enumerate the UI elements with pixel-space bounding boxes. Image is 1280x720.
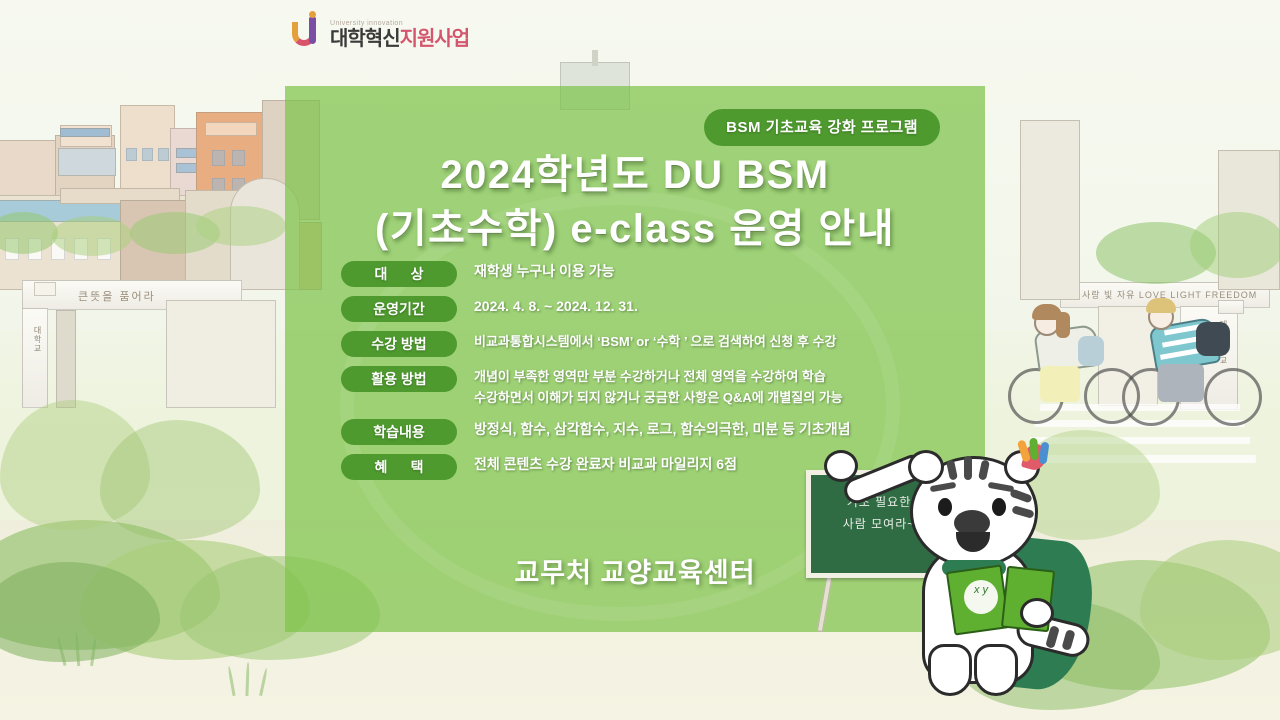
logo-subtitle: University innovation (330, 20, 469, 27)
left-gate-column (56, 310, 76, 408)
gate-emblem-right (1218, 300, 1244, 314)
logo-title-dark: 대학혁신 (330, 28, 400, 50)
tree-canopy (196, 206, 286, 246)
left-gate-wall (166, 300, 276, 408)
uj-logo-icon (292, 16, 324, 52)
info-row: 운영기간 2024. 4. 8. ~ 2024. 12. 31. (341, 296, 941, 322)
tree-canopy (52, 216, 132, 256)
info-value: 방정식, 함수, 삼각함수, 지수, 로그, 함수의극한, 미분 등 기초개념 (474, 419, 941, 440)
info-row: 대 상 재학생 누구나 이용 가능 (341, 261, 941, 287)
info-row: 수강 방법 비교과통합시스템에서 ‘BSM’ or ‘수학 ’ 으로 검색하여 … (341, 331, 941, 357)
gate-emblem (34, 282, 56, 296)
left-pillar-text: 대학교 (32, 326, 43, 353)
mascot-paw (1020, 598, 1054, 628)
antenna (592, 50, 598, 66)
white-tiger-mascot: x y (900, 448, 1120, 698)
info-row: 활용 방법 개념이 부족한 영역만 부분 수강하거나 전체 영역을 수강하여 학… (341, 366, 941, 408)
title-line-1: 2024학년도 DU BSM (285, 148, 985, 202)
info-value: 비교과통합시스템에서 ‘BSM’ or ‘수학 ’ 으로 검색하여 신청 후 수… (474, 331, 941, 352)
university-innovation-logo: University innovation 대학혁신지원사업 (292, 16, 469, 52)
left-gate-text: 큰뜻을 품어라 (78, 288, 156, 304)
logo-text: University innovation 대학혁신지원사업 (330, 20, 469, 49)
mascot-leg (928, 644, 972, 696)
info-label: 학습내용 (341, 419, 457, 445)
info-label: 운영기간 (341, 296, 457, 322)
info-label: 대 상 (341, 261, 457, 287)
tree-canopy (1190, 212, 1280, 278)
info-value: 2024. 4. 8. ~ 2024. 12. 31. (474, 296, 941, 317)
info-label: 활용 방법 (341, 366, 457, 392)
mascot-paw (824, 450, 858, 482)
poster-canvas: 큰뜻을 품어라 대학교 사랑 빛 자유 LOVE LIGHT FREEDOM 대… (0, 0, 1280, 720)
mascot-leg (974, 644, 1018, 696)
mascot-eye (938, 498, 952, 516)
info-value: 재학생 누구나 이용 가능 (474, 261, 941, 282)
foreground-shrub (100, 420, 260, 540)
info-row: 학습내용 방정식, 함수, 삼각함수, 지수, 로그, 함수의극한, 미분 등 … (341, 419, 941, 445)
mascot-eye (992, 498, 1006, 516)
title-line-2: (기초수학) e-class 운영 안내 (285, 202, 985, 256)
info-value: 개념이 부족한 영역만 부분 수강하거나 전체 영역을 수강하여 학습 수강하면… (474, 366, 941, 408)
info-label: 혜 택 (341, 454, 457, 480)
mascot-ear (908, 450, 944, 484)
left-gate-pillar (22, 308, 48, 408)
logo-title: 대학혁신지원사업 (330, 29, 469, 49)
program-badge: BSM 기초교육 강화 프로그램 (704, 109, 940, 146)
info-label: 수강 방법 (341, 331, 457, 357)
book-label: x y (964, 580, 998, 614)
poster-title: 2024학년도 DU BSM (기초수학) e-class 운영 안내 (285, 148, 985, 257)
logo-title-pink: 지원사업 (400, 28, 470, 50)
